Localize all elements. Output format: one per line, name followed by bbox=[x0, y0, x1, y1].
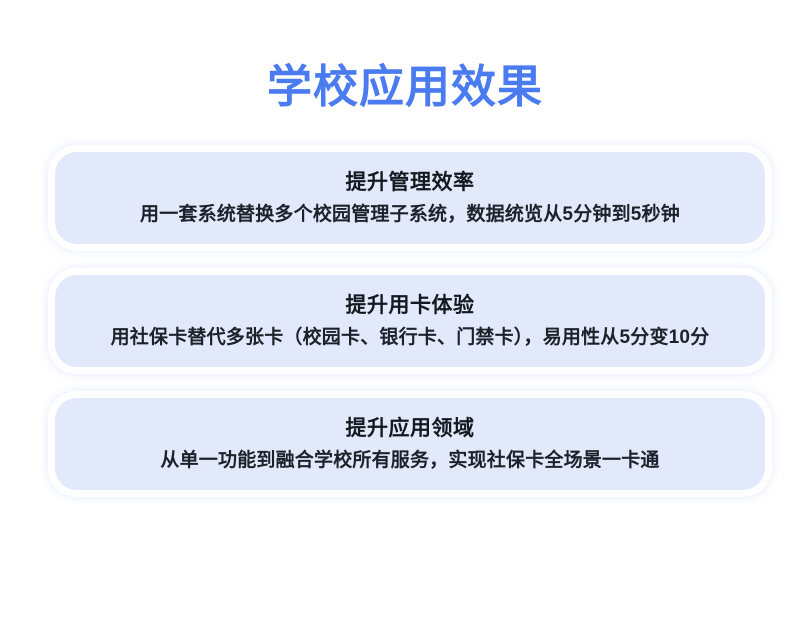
card-heading: 提升用卡体验 bbox=[346, 291, 475, 321]
card-wrapper-1: 提升管理效率 用一套系统替换多个校园管理子系统，数据统览从5分钟到5秒钟 bbox=[0, 152, 810, 244]
card-body-text: 用社保卡替代多张卡（校园卡、银行卡、门禁卡），易用性从5分变10分 bbox=[111, 324, 710, 351]
effect-card-management-efficiency: 提升管理效率 用一套系统替换多个校园管理子系统，数据统览从5分钟到5秒钟 bbox=[55, 152, 765, 244]
card-body-text: 从单一功能到融合学校所有服务，实现社保卡全场景一卡通 bbox=[160, 447, 659, 474]
page-title: 学校应用效果 bbox=[0, 60, 810, 114]
card-heading: 提升应用领域 bbox=[346, 414, 475, 444]
effect-card-application-scope: 提升应用领域 从单一功能到融合学校所有服务，实现社保卡全场景一卡通 bbox=[55, 398, 765, 490]
card-body-text: 用一套系统替换多个校园管理子系统，数据统览从5分钟到5秒钟 bbox=[140, 201, 680, 228]
card-wrapper-2: 提升用卡体验 用社保卡替代多张卡（校园卡、银行卡、门禁卡），易用性从5分变10分 bbox=[0, 275, 810, 367]
effect-card-card-experience: 提升用卡体验 用社保卡替代多张卡（校园卡、银行卡、门禁卡），易用性从5分变10分 bbox=[55, 275, 765, 367]
card-wrapper-3: 提升应用领域 从单一功能到融合学校所有服务，实现社保卡全场景一卡通 bbox=[0, 398, 810, 490]
card-heading: 提升管理效率 bbox=[346, 168, 475, 198]
school-application-effects-page: 学校应用效果 提升管理效率 用一套系统替换多个校园管理子系统，数据统览从5分钟到… bbox=[0, 0, 810, 622]
effects-card-list: 提升管理效率 用一套系统替换多个校园管理子系统，数据统览从5分钟到5秒钟 提升用… bbox=[0, 152, 810, 521]
